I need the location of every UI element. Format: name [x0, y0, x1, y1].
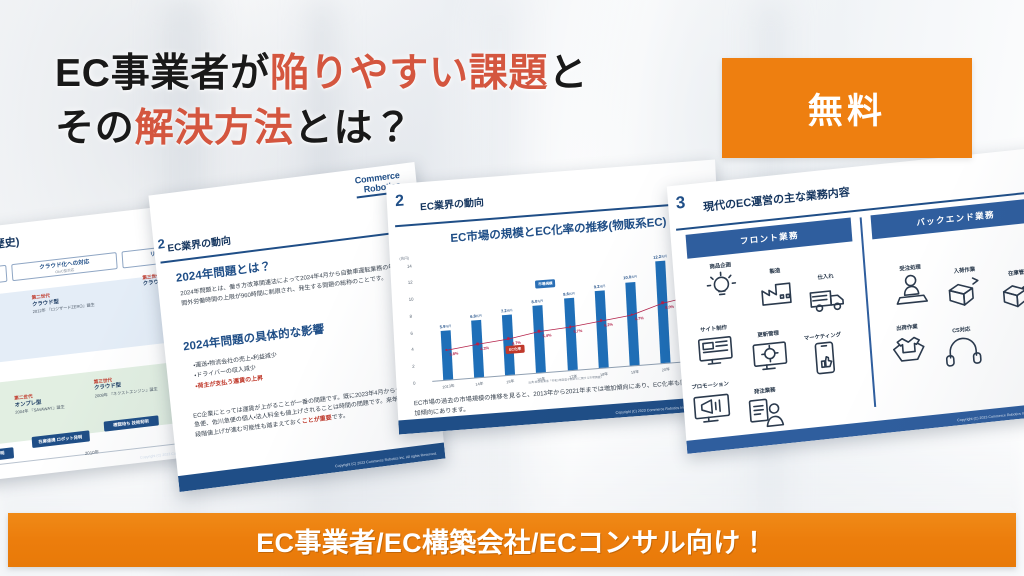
person-laptop-icon	[891, 270, 933, 308]
headline-highlight: 解決方法	[135, 107, 294, 150]
headline-post: とは？	[294, 107, 413, 150]
chart-x-tick: 15年	[506, 380, 515, 386]
operation-item: 製造	[747, 264, 806, 313]
slide-number: 3	[675, 194, 686, 212]
chart-y-tick: 8	[409, 314, 412, 319]
chart-y-tick: 14	[407, 263, 412, 268]
timeline-chip: クラウド化への対応 OtoC型対応	[11, 252, 118, 281]
chart-x-tick: 14年	[475, 382, 484, 388]
audience-banner: EC事業者/EC構築会社/ECコンサル向け！	[8, 513, 1016, 567]
monitor-megaphone-icon	[691, 388, 733, 426]
chart-title: EC市場の規模とEC化率の推移(物販系EC)	[408, 210, 708, 249]
chart-plot: 5.9兆円2013年3.8%6.8兆円14年4.3%7.2兆円15年4.7%8.…	[426, 243, 712, 382]
timeline-chip: 他店舗運営への対応 メール・カート型対応	[0, 265, 7, 294]
chart-y-tick: 6	[410, 330, 413, 335]
box-inbound-icon	[945, 273, 987, 311]
timeline-title: 史(OMS・WMSの歴史)	[0, 233, 20, 262]
chip-sub: メール・カート型対応	[0, 276, 6, 292]
chart-y-tick: 12	[408, 280, 413, 285]
headline-line-1: EC事業者が陥りやすい課題と	[55, 46, 695, 101]
body-impact-detail: EC企業にとっては運賃が上がることが一番の問題です。既に2023年4月からヤマト…	[193, 383, 427, 441]
lightbulb-icon	[701, 269, 743, 307]
front-operations-header: フロント業務	[686, 217, 853, 258]
chart-y-tick: 0	[413, 381, 416, 386]
banner-stage: 史(OMS・WMSの歴史) 他店舗運営への対応 メール・カート型対応 クラウド化…	[0, 0, 1024, 576]
monitor-gear-icon	[749, 336, 791, 374]
headline-pre: EC事業者が	[55, 52, 270, 95]
box-shirt-icon	[887, 330, 929, 368]
slide-thumbnail-ec-operations[interactable]: 3 現代のEC運営の主な業務内容 フロント業務 バックエンド業務 商品企画製造仕…	[667, 146, 1024, 454]
page-title: EC事業者が陥りやすい課題と その解決方法とは？	[55, 46, 695, 157]
smartphone-thumbup-icon	[803, 339, 845, 377]
chart-line-series	[426, 243, 712, 381]
column-divider	[860, 217, 876, 407]
operation-item: 受注処理	[882, 260, 941, 309]
monitor-layout-icon	[694, 331, 736, 369]
chart-annotation-ec-rate: EC化率	[506, 345, 525, 354]
back-operations-header: バックエンド業務	[870, 197, 1024, 239]
operation-item: 出荷作業	[879, 320, 938, 369]
operation-item: 在庫管理	[991, 265, 1024, 314]
factory-icon	[755, 274, 797, 312]
headset-icon	[942, 332, 984, 370]
operation-item: サイト制作	[685, 322, 744, 371]
body-impact-text: EC企業にとっては運賃が上がることが一番の問題です。既に2023年4月からヤマト…	[193, 385, 422, 439]
slide-section-title: 現代のEC運営の主な業務内容	[703, 184, 851, 215]
operation-item: 仕入れ	[797, 269, 856, 318]
operation-item: 発注業務	[737, 384, 796, 433]
audience-banner-label: EC事業者/EC構築会社/ECコンサル向け！	[256, 521, 767, 560]
free-badge: 無料	[722, 58, 972, 158]
operation-item: プロモーション	[682, 378, 741, 427]
chart-y-tick: 10	[409, 297, 414, 302]
headline-post: と	[548, 52, 588, 95]
operation-item: 更新管理	[740, 327, 799, 376]
chart-y-tick: 4	[411, 347, 414, 352]
operation-item: 商品企画	[692, 259, 751, 308]
operation-item: 入荷作業	[936, 263, 995, 312]
slide-section-title: EC業界の動向	[167, 232, 232, 255]
headline-line-2: その解決方法とは？	[55, 101, 695, 156]
slide-section-title: EC業界の動向	[420, 194, 485, 214]
truck-icon	[806, 279, 848, 317]
slide-number: 2	[157, 236, 166, 252]
operation-item: CS対応	[933, 322, 992, 371]
body-impact-tail: です。	[331, 413, 349, 421]
chart-area: (兆円) 02468101214 5.9兆円2013年3.8%6.8兆円14年4…	[426, 243, 712, 382]
box-stack-icon	[999, 275, 1024, 313]
clipboard-person-icon	[745, 393, 787, 431]
chart-annotation-market-size: 市場規模	[535, 279, 556, 288]
slide-number: 2	[395, 193, 405, 210]
headline-highlight: 陥りやすい課題	[270, 52, 548, 95]
chart-y-unit: (兆円)	[399, 256, 409, 262]
headline-pre: その	[55, 107, 135, 150]
free-badge-label: 無料	[808, 83, 886, 134]
operation-item: マーケティング	[794, 329, 853, 378]
body-impact-emphasis: ことが重要	[302, 415, 332, 425]
timeline-axis-year: 2010年	[85, 450, 100, 458]
chart-x-tick: 2013年	[442, 384, 455, 391]
chart-y-tick: 2	[412, 364, 415, 369]
